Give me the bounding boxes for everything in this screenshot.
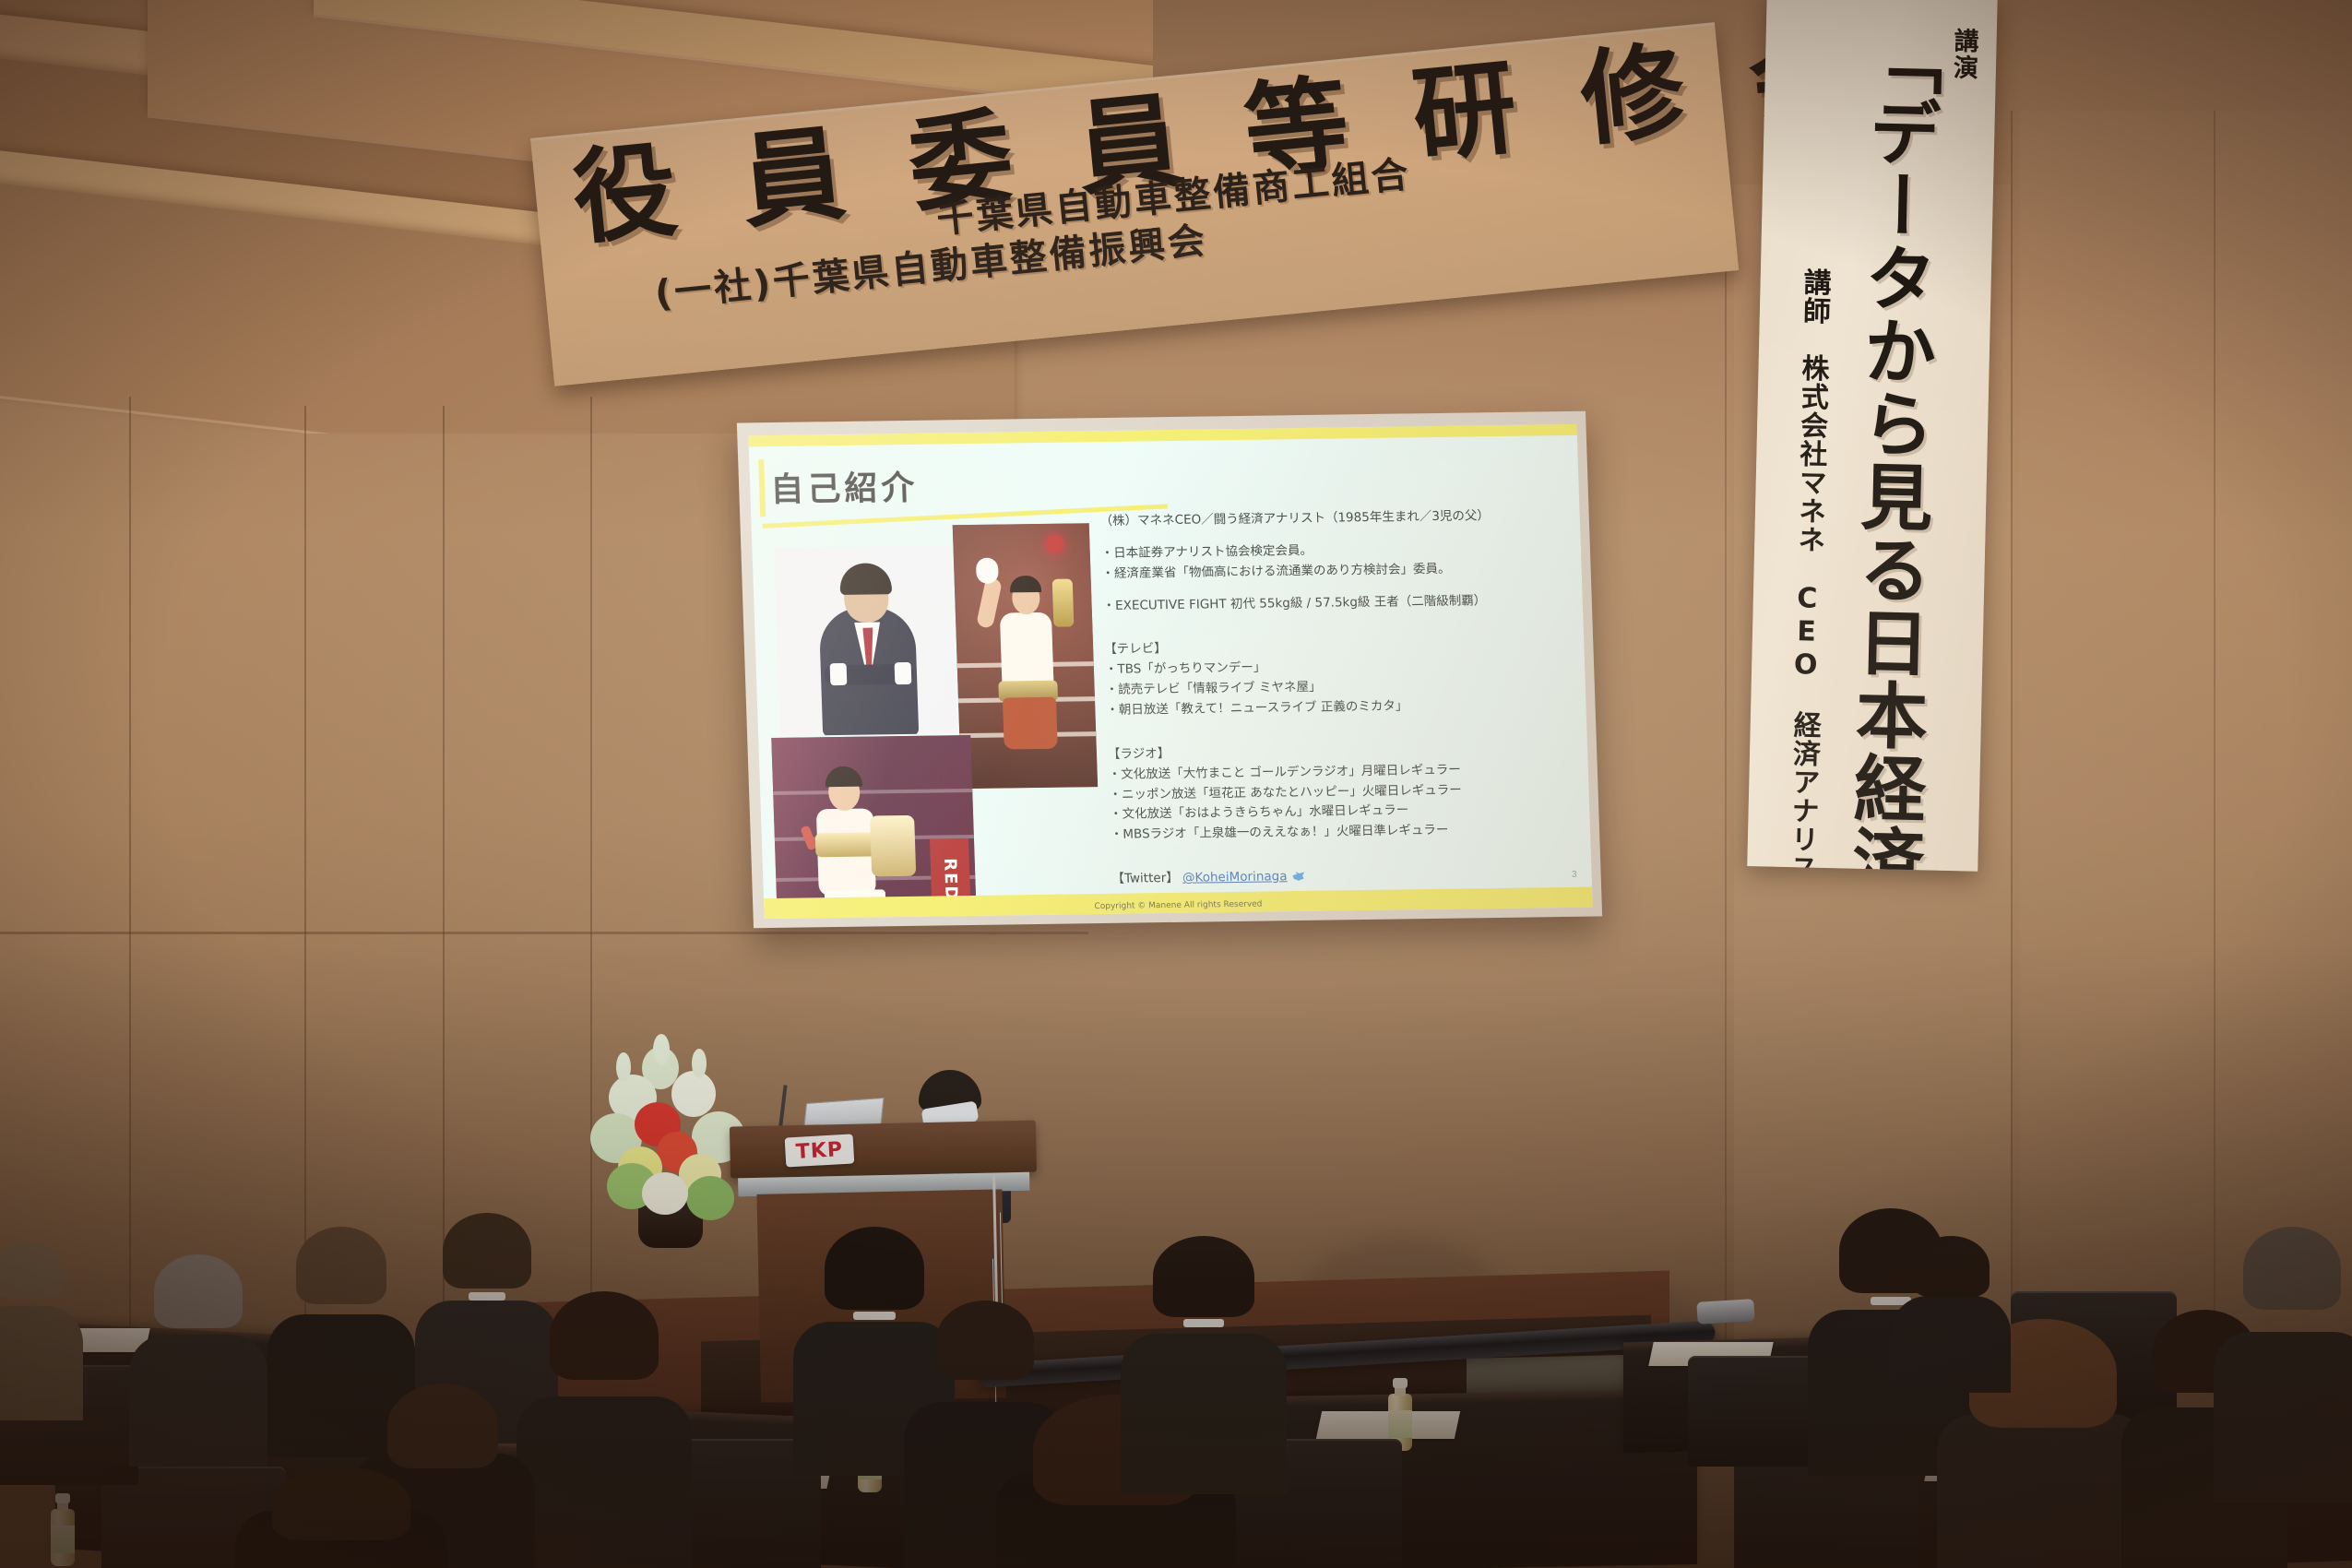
water-bottle bbox=[51, 1494, 75, 1566]
slide-youtube-item-0[interactable]: ・森永康平のマネネTV bbox=[1193, 913, 1322, 919]
slide-text-column: （株）マネネCEO／闘う経済アナリスト（1985年生まれ／3児の父） ・日本証券… bbox=[1099, 505, 1581, 919]
slide-title-accent-left bbox=[758, 459, 766, 517]
wall-slab-far-right bbox=[2020, 111, 2352, 1365]
audience-member bbox=[2214, 1227, 2352, 1503]
photo-canvas: 役 員 委 員 等 研 修 会 千葉県自動車整備商工組合 (一社)千葉県自動車整… bbox=[0, 0, 2352, 1568]
audience-member bbox=[1121, 1236, 1287, 1494]
audience-member bbox=[517, 1291, 692, 1568]
slide-youtube-label: 【YouTube】 bbox=[1113, 915, 1189, 919]
presentation-slide: 自己紹介 bbox=[748, 424, 1592, 919]
lecture-banner-title: 「データから見る日本経済と世界経済」 bbox=[1820, 21, 1953, 871]
audience-member bbox=[235, 1476, 447, 1568]
slide-page-number: 3 bbox=[1572, 870, 1577, 880]
slide-photo-collage: REDEN bbox=[765, 523, 1101, 900]
twitter-icon bbox=[1292, 871, 1304, 881]
photo-portrait-in-suit bbox=[774, 545, 957, 736]
stage-pipe-cap bbox=[1696, 1299, 1754, 1324]
podium-top: TKP bbox=[730, 1121, 1037, 1179]
tkp-logo: TKP bbox=[785, 1134, 855, 1167]
lecture-title-banner: 講演 「データから見る日本経済と世界経済」 講師 株式会社マネネ CEO 経済ア… bbox=[1747, 0, 1997, 872]
photo-boxer-with-belts: REDEN bbox=[771, 735, 976, 900]
slide-top-accent-bar bbox=[748, 424, 1576, 447]
slide-twitter-handle[interactable]: @KoheiMorinaga bbox=[1182, 869, 1288, 885]
lecture-banner-speaker: 講師 株式会社マネネ CEO 経済アナリスト 森永 康平 氏 bbox=[1774, 267, 1835, 872]
youtube-icon bbox=[1327, 914, 1343, 919]
audience-member bbox=[1891, 1236, 2011, 1393]
audience-member bbox=[0, 1236, 83, 1420]
photo-boxer-in-ring bbox=[953, 523, 1098, 789]
projection-screen: 自己紹介 bbox=[737, 411, 1602, 929]
ring-banner-text: REDEN bbox=[930, 838, 972, 900]
slide-title: 自己紹介 bbox=[769, 461, 919, 511]
audience-member bbox=[129, 1254, 267, 1467]
slide-twitter-label: 【Twitter】 bbox=[1111, 871, 1179, 886]
